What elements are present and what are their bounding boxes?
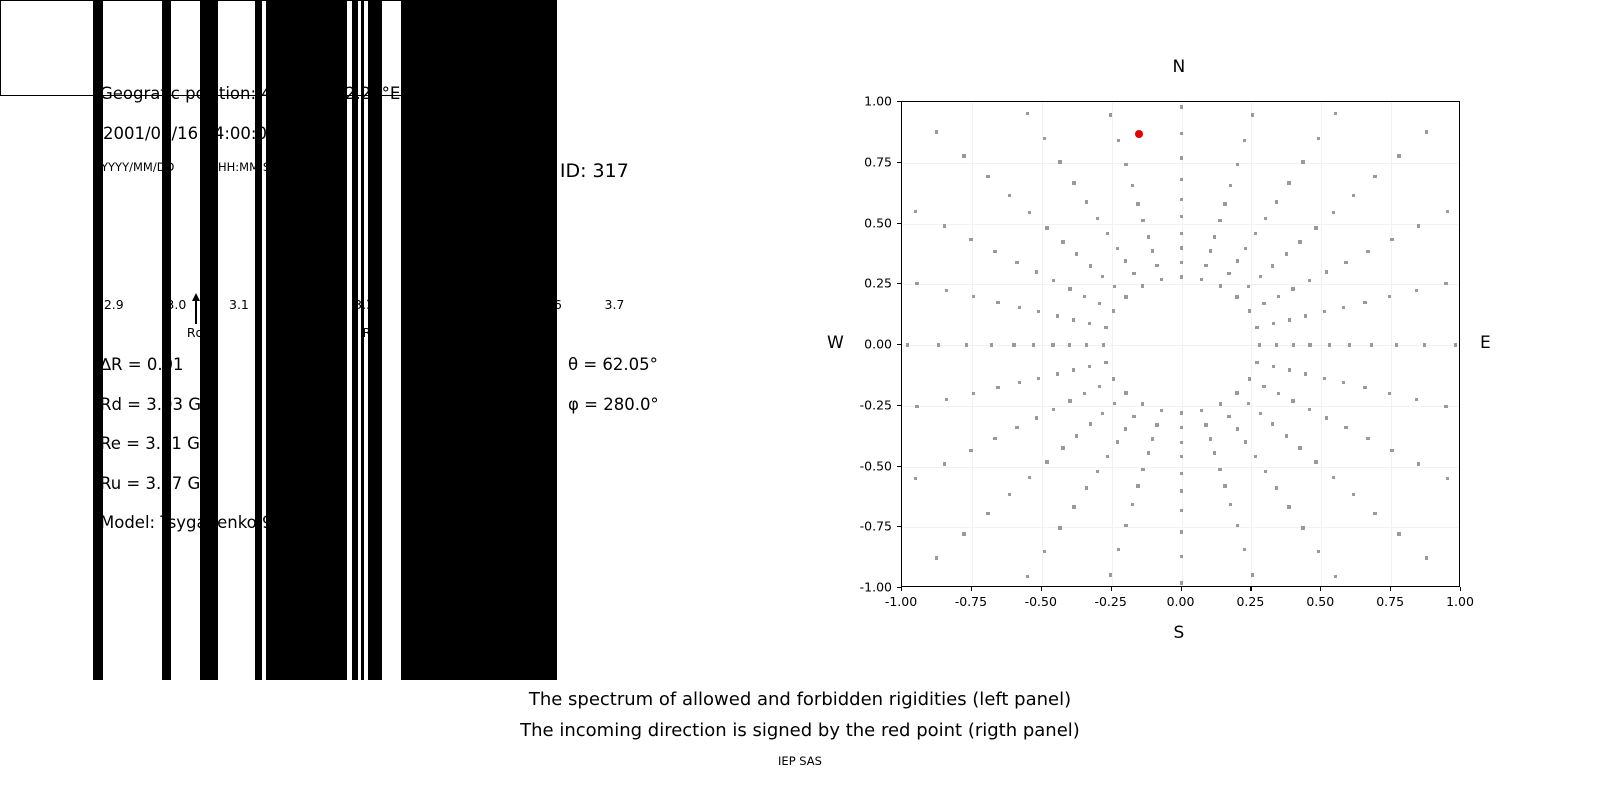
- scatter-point: [1204, 264, 1207, 267]
- scatter-point: [1317, 137, 1320, 140]
- scatter-point: [1160, 278, 1163, 281]
- scatter-point: [1301, 526, 1304, 529]
- param-delta-r: ∆R = 0.01: [100, 355, 184, 374]
- scatter-point: [943, 224, 946, 227]
- scatter-point: [1314, 226, 1317, 229]
- scatter-point: [1085, 486, 1088, 489]
- scatter-point: [1102, 343, 1105, 346]
- y-axis-tick-mark: [897, 283, 901, 284]
- scatter-point: [1043, 137, 1046, 140]
- scatter-point: [1218, 219, 1221, 222]
- param-phi: φ = 280.0°: [568, 395, 659, 414]
- rigidity-tick-label: 2.9: [104, 297, 124, 312]
- scatter-point: [962, 154, 965, 157]
- scatter-point: [1124, 524, 1127, 527]
- rigidity-tick-label: 3.0: [166, 297, 186, 312]
- scatter-point: [1236, 163, 1239, 166]
- forbidden-band: [266, 0, 347, 96]
- scatter-point: [1018, 381, 1021, 384]
- scatter-point: [1308, 343, 1311, 346]
- scatter-point: [1390, 449, 1393, 452]
- scatter-point: [1015, 426, 1018, 429]
- scatter-point: [1124, 163, 1127, 166]
- scatter-point: [1141, 219, 1144, 222]
- forbidden-band: [401, 0, 557, 96]
- scatter-point: [1229, 503, 1232, 506]
- scatter-point: [1277, 295, 1280, 298]
- rigidity-tick-label: 3.6: [542, 297, 562, 312]
- scatter-point: [1116, 440, 1119, 443]
- x-axis-tick-label: -0.75: [955, 594, 987, 609]
- scatter-point: [1180, 105, 1183, 108]
- scatter-point: [1344, 261, 1347, 264]
- scatter-point: [1292, 343, 1295, 346]
- scatter-point: [1098, 302, 1101, 305]
- scatter-point: [1334, 112, 1337, 115]
- x-axis-tick-mark: [1181, 587, 1182, 591]
- scatter-point: [1088, 322, 1091, 325]
- scatter-point: [1236, 259, 1239, 262]
- scatter-point: [1264, 470, 1267, 473]
- scatter-point: [1112, 309, 1115, 312]
- scatter-point: [969, 449, 972, 452]
- compass-label-north: N: [1173, 57, 1186, 77]
- scatter-point: [1332, 476, 1335, 479]
- gridline-horizontal: [902, 224, 1459, 225]
- marker-shaft: [195, 298, 196, 324]
- scatter-point: [1132, 272, 1135, 275]
- scatter-point: [1155, 264, 1158, 267]
- scatter-point: [972, 392, 975, 395]
- scatter-point: [1397, 154, 1400, 157]
- scatter-point: [1180, 581, 1183, 584]
- rigidity-tick-label: 3.5: [479, 297, 499, 312]
- scatter-point: [1180, 246, 1183, 249]
- forbidden-band: [162, 0, 171, 96]
- scatter-point: [1141, 468, 1144, 471]
- rigidity-axis: 2.93.03.13.23.33.43.53.63.7RdReRu: [95, 293, 652, 294]
- scatter-point: [1348, 343, 1351, 346]
- scatter-point: [1363, 301, 1366, 304]
- scatter-point: [1244, 440, 1247, 443]
- forbidden-band: [368, 0, 382, 96]
- scatter-point: [1352, 194, 1355, 197]
- param-theta: θ = 62.05°: [568, 355, 658, 374]
- scatter-point: [1366, 250, 1369, 253]
- caption-line-1: The spectrum of allowed and forbidden ri…: [0, 684, 1600, 715]
- scatter-point: [1136, 484, 1139, 487]
- scatter-point: [1247, 402, 1250, 405]
- scatter-point: [1247, 285, 1250, 288]
- scatter-point: [1068, 399, 1071, 402]
- scatter-point: [1251, 573, 1254, 576]
- scatter-point: [1117, 139, 1120, 142]
- scatter-point: [1259, 412, 1262, 415]
- scatter-point: [1244, 247, 1247, 250]
- gridline-vertical: [1321, 102, 1322, 586]
- scatter-point: [1370, 343, 1373, 346]
- scatter-point: [935, 130, 938, 133]
- scatter-point: [1037, 377, 1040, 380]
- compass-label-east: E: [1480, 333, 1491, 353]
- scatter-point: [1248, 309, 1251, 312]
- scatter-point: [1088, 365, 1091, 368]
- forbidden-band: [93, 0, 103, 96]
- scatter-point: [1180, 509, 1183, 512]
- scatter-point: [1213, 235, 1216, 238]
- scatter-point: [1035, 270, 1038, 273]
- scatter-point: [1287, 181, 1290, 184]
- y-axis-tick-mark: [897, 162, 901, 163]
- scatter-point: [1045, 226, 1048, 229]
- marker-shaft: [533, 298, 534, 324]
- x-axis-tick-label: 0.25: [1236, 594, 1264, 609]
- scatter-point: [1061, 240, 1064, 243]
- scatter-point: [1200, 409, 1203, 412]
- scatter-point: [1026, 112, 1029, 115]
- forbidden-band: [352, 0, 358, 96]
- scatter-point: [1180, 132, 1183, 135]
- scatter-point: [1243, 548, 1246, 551]
- scatter-point: [1180, 441, 1183, 444]
- scatter-point: [990, 343, 993, 346]
- scatter-point: [1015, 261, 1018, 264]
- y-axis-tick-mark: [897, 526, 901, 527]
- scatter-point: [1323, 377, 1326, 380]
- scatter-point: [1209, 437, 1212, 440]
- scatter-point: [1109, 573, 1112, 576]
- scatter-point: [1288, 368, 1291, 371]
- x-axis-tick-label: -0.25: [1094, 594, 1126, 609]
- scatter-point: [1180, 426, 1183, 429]
- scatter-point: [1446, 477, 1449, 480]
- y-axis-tick-mark: [897, 223, 901, 224]
- x-axis-tick-mark: [1390, 587, 1391, 591]
- scatter-point: [915, 405, 918, 408]
- scatter-point: [996, 386, 999, 389]
- scatter-point: [1035, 416, 1038, 419]
- scatter-point: [1018, 306, 1021, 309]
- scatter-point: [1366, 437, 1369, 440]
- y-axis-tick-label: -0.25: [800, 397, 892, 412]
- scatter-point: [1075, 434, 1078, 437]
- scatter-point: [1180, 261, 1183, 264]
- scatter-point: [1096, 470, 1099, 473]
- rigidity-marker-label: Rd: [187, 325, 204, 340]
- scatter-point: [993, 437, 996, 440]
- x-axis-tick-label: 1.00: [1446, 594, 1474, 609]
- scatter-point: [1444, 282, 1447, 285]
- scatter-point: [1072, 181, 1075, 184]
- forbidden-band: [255, 0, 261, 96]
- scatter-point: [937, 343, 940, 346]
- x-axis-tick-label: 0.75: [1376, 594, 1404, 609]
- scatter-point: [1012, 343, 1015, 346]
- scatter-point: [1124, 391, 1127, 394]
- scatter-point: [1032, 343, 1035, 346]
- param-re: Re = 3.31 GV: [100, 434, 211, 453]
- scatter-point: [914, 210, 917, 213]
- scatter-point: [1264, 217, 1267, 220]
- scatter-point: [1219, 402, 1222, 405]
- scatter-point: [1254, 232, 1257, 235]
- scatter-point: [1304, 372, 1307, 375]
- scatter-point: [1083, 295, 1086, 298]
- scatter-point: [1101, 412, 1104, 415]
- scatter-point: [1262, 385, 1265, 388]
- direction-scatter-plot: [901, 101, 1460, 587]
- scatter-point: [986, 512, 989, 515]
- rigidity-tick-label: 3.7: [604, 297, 624, 312]
- y-axis-tick-mark: [897, 101, 901, 102]
- scatter-point: [1052, 408, 1055, 411]
- scatter-point: [1147, 235, 1150, 238]
- scatter-point: [1124, 259, 1127, 262]
- scatter-point: [1116, 247, 1119, 250]
- scatter-point: [1180, 555, 1183, 558]
- scatter-point: [1209, 249, 1212, 252]
- scatter-point: [1298, 446, 1301, 449]
- scatter-point: [1200, 278, 1203, 281]
- forbidden-band: [200, 0, 218, 96]
- scatter-point: [1272, 322, 1275, 325]
- scatter-point: [1180, 215, 1183, 218]
- scatter-point: [1352, 493, 1355, 496]
- scatter-point: [1180, 178, 1183, 181]
- scatter-point: [1388, 392, 1391, 395]
- scatter-point: [1051, 343, 1054, 346]
- y-axis-tick-label: 0.50: [800, 215, 892, 230]
- scatter-point: [1363, 386, 1366, 389]
- scatter-point: [1180, 411, 1183, 414]
- scatter-point: [1373, 512, 1376, 515]
- scatter-point: [1155, 423, 1158, 426]
- scatter-point: [1325, 270, 1328, 273]
- scatter-point: [1151, 437, 1154, 440]
- scatter-point: [1131, 503, 1134, 506]
- caption-line-2: The incoming direction is signed by the …: [0, 715, 1600, 746]
- scatter-point: [1308, 279, 1311, 282]
- scatter-point: [1291, 399, 1294, 402]
- scatter-point: [1056, 372, 1059, 375]
- scatter-point: [1390, 238, 1393, 241]
- scatter-point: [1117, 548, 1120, 551]
- scatter-point: [1271, 422, 1274, 425]
- scatter-point: [1454, 343, 1457, 346]
- scatter-point: [1272, 365, 1275, 368]
- y-axis-tick-mark: [897, 405, 901, 406]
- y-axis-tick-label: 1.00: [800, 94, 892, 109]
- y-axis-tick-label: -0.75: [800, 519, 892, 534]
- scatter-point: [1277, 392, 1280, 395]
- scatter-point: [1325, 416, 1328, 419]
- scatter-point: [1417, 224, 1420, 227]
- scatter-point: [1028, 476, 1031, 479]
- gridline-vertical: [1182, 102, 1183, 586]
- scatter-point: [1254, 455, 1257, 458]
- scatter-point: [1223, 484, 1226, 487]
- scatter-point: [996, 301, 999, 304]
- scatter-point: [1106, 455, 1109, 458]
- scatter-point: [1180, 198, 1183, 201]
- footer-text: IEP SAS: [0, 754, 1600, 768]
- scatter-point: [1328, 343, 1331, 346]
- scatter-point: [1132, 415, 1135, 418]
- scatter-point: [1425, 556, 1428, 559]
- scatter-point: [1446, 210, 1449, 213]
- scatter-point: [1213, 451, 1216, 454]
- scatter-point: [1104, 326, 1107, 329]
- gridline-vertical: [1112, 102, 1113, 586]
- rigidity-tick-label: 3.4: [417, 297, 437, 312]
- figure-caption: The spectrum of allowed and forbidden ri…: [0, 684, 1600, 746]
- scatter-point: [1301, 160, 1304, 163]
- scatter-point: [1008, 493, 1011, 496]
- x-axis-tick-mark: [1041, 587, 1042, 591]
- scatter-point: [1251, 113, 1254, 116]
- scatter-point: [1275, 200, 1278, 203]
- scatter-point: [1243, 139, 1246, 142]
- scatter-point: [914, 477, 917, 480]
- scatter-point: [1101, 275, 1104, 278]
- scatter-point: [1259, 275, 1262, 278]
- scatter-point: [1227, 415, 1230, 418]
- rigidity-marker-label: Ru: [525, 325, 541, 340]
- scatter-point: [993, 250, 996, 253]
- gridline-vertical: [1251, 102, 1252, 586]
- x-axis-tick-label: 0.00: [1167, 594, 1195, 609]
- scatter-point: [1026, 575, 1029, 578]
- scatter-point: [1058, 526, 1061, 529]
- scatter-point: [1106, 232, 1109, 235]
- scatter-point: [1052, 279, 1055, 282]
- gridline-vertical: [1391, 102, 1392, 586]
- scatter-point: [1229, 184, 1232, 187]
- scatter-point: [1141, 284, 1144, 287]
- gridline-horizontal: [902, 527, 1459, 528]
- scatter-point: [1342, 306, 1345, 309]
- scatter-point: [1058, 160, 1061, 163]
- scatter-point: [1395, 343, 1398, 346]
- scatter-point: [1147, 451, 1150, 454]
- scatter-point: [1075, 252, 1078, 255]
- scatter-point: [906, 343, 909, 346]
- y-axis-tick-label: 0.75: [800, 154, 892, 169]
- x-axis-tick-mark: [1460, 587, 1461, 591]
- y-axis-tick-label: 0.00: [800, 337, 892, 352]
- scatter-point: [1072, 318, 1075, 321]
- scatter-point: [1180, 275, 1183, 278]
- gridline-horizontal: [902, 163, 1459, 164]
- scatter-point: [1236, 427, 1239, 430]
- gridline-horizontal: [902, 345, 1459, 346]
- scatter-point: [969, 238, 972, 241]
- scatter-point: [1255, 361, 1258, 364]
- scatter-point: [1235, 295, 1238, 298]
- scatter-point: [1417, 462, 1420, 465]
- scatter-point: [1068, 343, 1071, 346]
- param-ru: Ru = 3.57 GV: [100, 474, 212, 493]
- scatter-point: [1373, 175, 1376, 178]
- scatter-point: [1131, 184, 1134, 187]
- scatter-point: [1068, 287, 1071, 290]
- scatter-point: [1423, 343, 1426, 346]
- scatter-point: [1219, 284, 1222, 287]
- scatter-point: [1151, 249, 1154, 252]
- y-axis-tick-label: 0.25: [800, 276, 892, 291]
- rigidity-spectrum-bar: [0, 0, 557, 96]
- scatter-point: [1089, 264, 1092, 267]
- gridline-horizontal: [902, 406, 1459, 407]
- scatter-point: [1304, 314, 1307, 317]
- scatter-point: [962, 532, 965, 535]
- scatter-point: [1124, 427, 1127, 430]
- scatter-point: [1136, 202, 1139, 205]
- scatter-point: [1275, 343, 1278, 346]
- scatter-point: [1255, 326, 1258, 329]
- scatter-point: [1271, 264, 1274, 267]
- scatter-point: [1113, 402, 1116, 405]
- param-model: Model: Tsyganenko 96: [100, 513, 283, 532]
- scatter-point: [1072, 368, 1075, 371]
- datetime-text: 2001/07/16 04:00:00: [103, 124, 277, 143]
- rigidity-marker-label: Re: [362, 325, 378, 340]
- x-axis-tick-label: -1.00: [885, 594, 917, 609]
- scatter-point: [1180, 489, 1183, 492]
- x-axis-tick-label: 0.50: [1306, 594, 1334, 609]
- x-axis-tick-mark: [1250, 587, 1251, 591]
- scatter-point: [1291, 287, 1294, 290]
- scatter-point: [1308, 408, 1311, 411]
- gridline-horizontal: [902, 467, 1459, 468]
- scatter-point: [1180, 156, 1183, 159]
- scatter-point: [1323, 310, 1326, 313]
- y-axis-tick-mark: [897, 466, 901, 467]
- scatter-point: [1415, 289, 1418, 292]
- x-axis-tick-mark: [1111, 587, 1112, 591]
- scatter-point: [945, 289, 948, 292]
- scatter-point: [1085, 200, 1088, 203]
- scatter-point: [1317, 550, 1320, 553]
- gridline-horizontal: [902, 284, 1459, 285]
- scatter-point: [1314, 460, 1317, 463]
- scatter-point: [1045, 460, 1048, 463]
- scatter-point: [1218, 468, 1221, 471]
- scatter-point: [1344, 426, 1347, 429]
- rigidity-tick-label: 3.1: [229, 297, 249, 312]
- scatter-point: [986, 175, 989, 178]
- scatter-point: [1083, 392, 1086, 395]
- scatter-point: [1248, 377, 1251, 380]
- scatter-point: [1061, 446, 1064, 449]
- y-axis-tick-label: -1.00: [800, 580, 892, 595]
- x-axis-tick-mark: [971, 587, 972, 591]
- scatter-point: [1180, 530, 1183, 533]
- scatter-point: [1180, 455, 1183, 458]
- scatter-point: [1141, 402, 1144, 405]
- scatter-point: [1285, 434, 1288, 437]
- scatter-point: [1180, 232, 1183, 235]
- right-panel: N S E W 1.000.750.500.250.00-0.25-0.50-0…: [800, 0, 1600, 680]
- scatter-point: [965, 343, 968, 346]
- gridline-vertical: [1042, 102, 1043, 586]
- scatter-point: [1204, 423, 1207, 426]
- scatter-point: [1235, 391, 1238, 394]
- compass-label-south: S: [1174, 623, 1185, 643]
- incoming-direction-point: [1135, 130, 1143, 138]
- scatter-point: [1085, 343, 1088, 346]
- scatter-point: [915, 282, 918, 285]
